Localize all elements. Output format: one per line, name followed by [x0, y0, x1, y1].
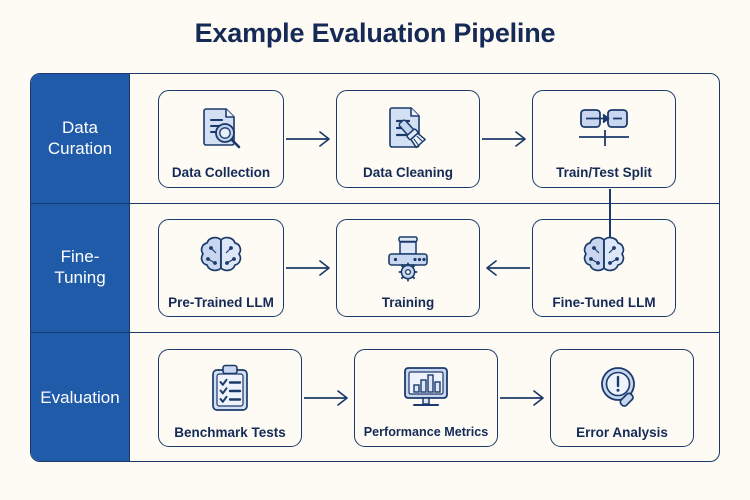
stage-body-data-curation: Data Collection: [130, 74, 719, 203]
split-boxes-icon: [533, 91, 675, 167]
card-fine-tuned-llm[interactable]: Fine-Tuned LLM: [532, 219, 676, 317]
pipeline-row-data-curation: Data Curation Data Collection: [31, 74, 719, 204]
card-performance-metrics[interactable]: Performance Metrics: [354, 349, 498, 447]
card-label: Fine-Tuned LLM: [552, 296, 655, 310]
card-label: Benchmark Tests: [174, 426, 286, 440]
arrow-benchmark-tests-to-performance-metrics: [302, 349, 354, 447]
magnifier-alert-icon: [551, 350, 693, 426]
arrow-fine-tuned-llm-to-training: [480, 219, 532, 317]
clipboard-checklist-icon: [159, 350, 301, 426]
card-label: Data Collection: [172, 166, 270, 180]
card-label: Training: [382, 296, 435, 310]
card-label: Data Cleaning: [363, 166, 453, 180]
pipeline-row-evaluation: Evaluation: [31, 333, 719, 462]
arrow-performance-metrics-to-error-analysis: [498, 349, 550, 447]
monitor-barchart-icon: [355, 350, 497, 426]
arrow-data-cleaning-to-train-test-split: [480, 90, 532, 188]
arrow-pre-trained-llm-to-training: [284, 219, 336, 317]
stage-body-evaluation: Benchmark Tests: [130, 333, 719, 462]
pipeline-diagram: Data Curation Data Collection: [30, 73, 720, 462]
page-title: Example Evaluation Pipeline: [0, 18, 750, 49]
card-pre-trained-llm[interactable]: Pre-Trained LLM: [158, 219, 284, 317]
stage-label-data-curation: Data Curation: [31, 74, 130, 203]
brain-circuit-icon: [533, 220, 675, 296]
card-label: Train/Test Split: [556, 166, 652, 180]
document-brush-icon: [337, 91, 479, 167]
card-label: Pre-Trained LLM: [168, 296, 274, 310]
arrow-data-collection-to-data-cleaning: [284, 90, 336, 188]
document-magnifier-icon: [159, 91, 283, 167]
card-benchmark-tests[interactable]: Benchmark Tests: [158, 349, 302, 447]
card-data-collection[interactable]: Data Collection: [158, 90, 284, 188]
card-data-cleaning[interactable]: Data Cleaning: [336, 90, 480, 188]
card-label: Performance Metrics: [364, 426, 489, 439]
stage-label-evaluation: Evaluation: [31, 333, 130, 462]
stage-label-fine-tuning: Fine- Tuning: [31, 204, 130, 332]
card-error-analysis[interactable]: Error Analysis: [550, 349, 694, 447]
stage-body-fine-tuning: Pre-Trained LLM: [130, 204, 719, 332]
brain-circuit-icon: [159, 220, 283, 296]
connector-train-test-split-to-fine-tuned-llm: [609, 189, 611, 237]
card-label: Error Analysis: [576, 426, 668, 440]
training-machine-gear-icon: [337, 220, 479, 296]
card-train-test-split[interactable]: Train/Test Split: [532, 90, 676, 188]
pipeline-row-fine-tuning: Fine- Tuning: [31, 204, 719, 333]
card-training[interactable]: Training: [336, 219, 480, 317]
